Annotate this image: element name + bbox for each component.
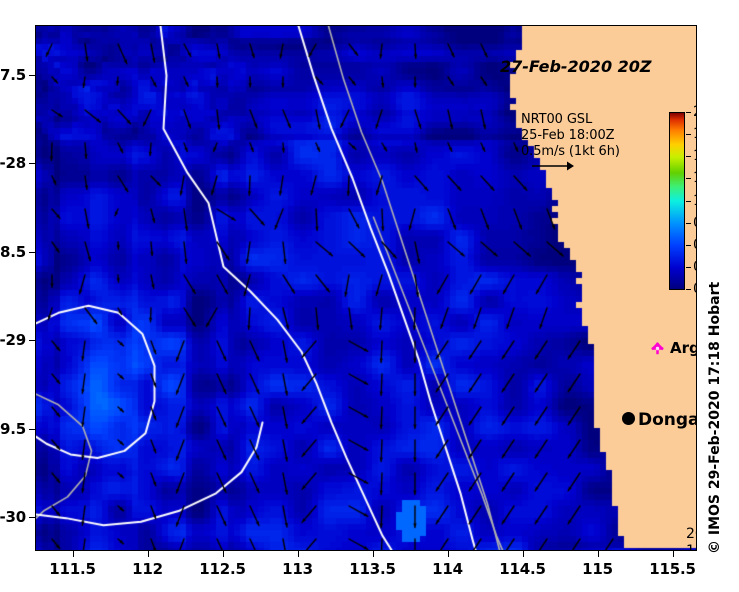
vector-legend: NRT00 GSL 25-Feb 18:00Z 0.5m/s (1kt 6h) (521, 112, 620, 160)
x-axis-tick (598, 551, 599, 557)
x-axis-tick (223, 551, 224, 557)
vector-legend-speed: 0.5m/s (1kt 6h) (521, 144, 620, 160)
vector-legend-time: 25-Feb 18:00Z (521, 128, 620, 144)
colorbar-tick-label: 1.5 (693, 148, 697, 164)
y-axis-tick (29, 340, 35, 341)
y-axis-tick-label: -30 (0, 508, 26, 526)
colorbar-tick (686, 245, 691, 246)
x-axis-tick (448, 551, 449, 557)
colorbar-tick (686, 134, 691, 135)
map-plot-area[interactable]: 27-Feb-2020 20Z NRT00 GSL 25-Feb 18:00Z … (35, 25, 697, 551)
dongara-label: Dongara (638, 410, 697, 430)
x-axis-tick-label: 115 (582, 560, 613, 578)
date-stamp: 27-Feb-2020 20Z (500, 57, 652, 76)
y-axis-tick-label: -28 (0, 154, 26, 172)
y-axis-tick (29, 517, 35, 518)
depth-200-label: 200m (686, 526, 697, 543)
colorbar-tick-label: 0.25 (693, 259, 697, 275)
colorbar-tick (686, 112, 691, 113)
colorbar-tick-label: 1 (693, 193, 697, 209)
colorbar-tick-label: 2 (693, 104, 697, 120)
x-axis-tick-label: 114 (432, 560, 463, 578)
colorbar-tick-label: 0 (693, 281, 697, 297)
copyright-notice: © IMOS 29-Feb-2020 17:18 Hobart (707, 282, 723, 554)
argo-label: Argo (670, 339, 697, 357)
colorbar-tick (686, 178, 691, 179)
y-axis-tick-label: -29 (0, 331, 26, 349)
colorbar-gradient[interactable] (669, 112, 685, 290)
y-axis-tick (29, 163, 35, 164)
x-axis-tick-label: 113.5 (349, 560, 395, 578)
colorbar-tick (686, 201, 691, 202)
y-axis-tick-label: -29.5 (0, 420, 26, 438)
colorbar-tick-label: 1.75 (693, 126, 697, 142)
x-axis-tick (298, 551, 299, 557)
y-axis-tick (29, 75, 35, 76)
colorbar-group[interactable]: 21.751.51.2510.750.50.250 (669, 112, 685, 290)
x-axis-tick (373, 551, 374, 557)
x-axis-tick-label: 111.5 (49, 560, 95, 578)
sst-age-map[interactable] (36, 26, 696, 550)
colorbar-tick-label: 0.5 (693, 237, 697, 253)
x-axis-tick (673, 551, 674, 557)
vector-legend-source: NRT00 GSL (521, 112, 620, 128)
x-axis-tick-label: 115.5 (649, 560, 695, 578)
colorbar-tick (686, 289, 691, 290)
y-axis-tick-label: -27.5 (0, 66, 26, 84)
y-axis-tick (29, 429, 35, 430)
colorbar-tick (686, 223, 691, 224)
x-axis-tick-label: 113 (282, 560, 313, 578)
y-axis-tick (29, 252, 35, 253)
x-axis-tick (73, 551, 74, 557)
y-axis-tick-label: -28.5 (0, 243, 26, 261)
x-axis-tick (523, 551, 524, 557)
x-axis-tick-label: 114.5 (499, 560, 545, 578)
reference-arrow-icon (531, 159, 575, 173)
x-axis-tick-label: 112.5 (199, 560, 245, 578)
argo-marker-icon[interactable] (651, 342, 664, 355)
x-axis-tick-label: 112 (132, 560, 163, 578)
bathymetry-legend: 200m 1000m (686, 526, 697, 551)
colorbar-tick (686, 267, 691, 268)
x-axis-tick (148, 551, 149, 557)
colorbar-tick-label: 0.75 (693, 215, 697, 231)
depth-1000-label: 1000m (686, 543, 697, 551)
colorbar-tick (686, 156, 691, 157)
figure-canvas: 27-Feb-2020 20Z NRT00 GSL 25-Feb 18:00Z … (0, 0, 739, 592)
dongara-marker-icon[interactable] (622, 412, 635, 425)
colorbar-tick-label: 1.25 (693, 170, 697, 186)
